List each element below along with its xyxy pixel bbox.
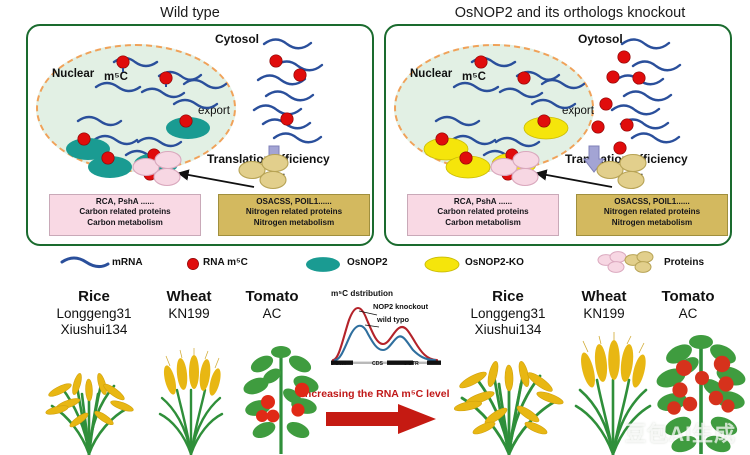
nitrogen-metabolism-box-knockout: OSACSS, POIL1...... Nitrogen related pro… [576, 194, 728, 236]
watermark: 豆包AI生成 [625, 418, 736, 448]
inset-tick-3utr: 3'UTR [404, 361, 419, 367]
chart-axis-segments [331, 361, 441, 365]
crop-title-rice-right: Rice [452, 288, 564, 306]
crop-variety-rice-left-1: Xiushui134 [38, 322, 150, 338]
inset-tick-5utr: 5'UTR [331, 361, 346, 367]
nitrogen-genes-knockout: OSACSS, POIL1...... [577, 197, 727, 207]
nitrogen-metabolism-box-wild-type: OSACSS, POIL1...... Nitrogen related pro… [218, 194, 370, 236]
increasing-m5c-arrow-icon [326, 404, 438, 438]
crop-variety-tomato-right-0: AC [648, 306, 728, 322]
carbon-metabolism-box-knockout: RCA, PshA ...... Carbon related proteins… [407, 194, 559, 236]
inset-legend-wildtype: wild typo [377, 315, 409, 324]
figure-canvas: Wild type OsNOP2 and its orthologs knock… [0, 0, 750, 455]
carbon-genes-knockout: RCA, PshA ...... [408, 197, 558, 207]
crop-variety-rice-right-1: Xiushui134 [452, 322, 564, 338]
carbon-metabolism-box-wild-type: RCA, PshA ...... Carbon related proteins… [49, 194, 201, 236]
osnop2-ko-icon [424, 256, 460, 273]
legend-label-rna-m5c: RNA m⁵C [203, 257, 248, 268]
crop-title-wheat-right: Wheat [563, 288, 645, 306]
carbon-proteins-wild-type: Carbon related proteins [50, 207, 200, 217]
legend-label-mrna: mRNA [112, 257, 143, 268]
carbon-metabolism-wild-type: Carbon metabolism [50, 218, 200, 228]
legend-label-proteins: Proteins [664, 257, 704, 268]
protein-cluster-tan [239, 155, 288, 189]
legend-label-osnop2-ko: OsNOP2-KO [465, 257, 524, 268]
inset-tick-cds: CDS [372, 361, 383, 367]
crop-title-tomato-right: Tomato [648, 288, 728, 306]
protein-cluster-tan-knockout [597, 155, 646, 189]
crop-label-rice-right: Rice Longgeng31 Xiushui134 [452, 288, 564, 338]
panel-title-wild-type: Wild type [60, 5, 320, 21]
nitrogen-metabolism-wild-type: Nitrogen metabolism [219, 218, 369, 228]
mrna-icon [60, 254, 110, 272]
carbon-genes-wild-type: RCA, PshA ...... [50, 197, 200, 207]
nitrogen-proteins-wild-type: Nitrogen related proteins [219, 207, 369, 217]
crop-variety-rice-right-0: Longgeng31 [452, 306, 564, 322]
crop-title-rice-left: Rice [38, 288, 150, 306]
inset-legend-knockout: NOP2 knockout [373, 302, 428, 311]
crop-label-tomato-left: Tomato AC [232, 288, 312, 322]
m5c-dots-knockout [436, 51, 645, 180]
nitrogen-metabolism-knockout: Nitrogen metabolism [577, 218, 727, 228]
nitrogen-proteins-knockout: Nitrogen related proteins [577, 207, 727, 217]
crop-variety-tomato-left-0: AC [232, 306, 312, 322]
crop-title-tomato-left: Tomato [232, 288, 312, 306]
proteins-icon [597, 251, 659, 275]
crop-variety-wheat-left-0: KN199 [148, 306, 230, 322]
panel-title-knockout: OsNOP2 and its orthologs knockout [420, 5, 720, 21]
plant-rice-right [448, 344, 570, 454]
nitrogen-genes-wild-type: OSACSS, POIL1...... [219, 197, 369, 207]
crop-variety-wheat-right-0: KN199 [563, 306, 645, 322]
plant-rice-left [36, 350, 142, 454]
plant-wheat-left [152, 350, 230, 454]
inset-chart-title: m⁵C dstribution [331, 289, 393, 298]
crop-label-wheat-left: Wheat KN199 [148, 288, 230, 322]
crop-label-rice-left: Rice Longgeng31 Xiushui134 [38, 288, 150, 338]
crop-label-tomato-right: Tomato AC [648, 288, 728, 322]
plant-tomato-left [238, 342, 324, 454]
crop-title-wheat-left: Wheat [148, 288, 230, 306]
rna-m5c-icon [186, 257, 200, 271]
carbon-proteins-knockout: Carbon related proteins [408, 207, 558, 217]
crop-variety-rice-left-0: Longgeng31 [38, 306, 150, 322]
osnop2-icon [305, 256, 341, 273]
legend-label-osnop2: OsNOP2 [347, 257, 388, 268]
carbon-metabolism-knockout: Carbon metabolism [408, 218, 558, 228]
crop-label-wheat-right: Wheat KN199 [563, 288, 645, 322]
increasing-m5c-label: Increasing the RNA m⁵C level [302, 388, 450, 400]
